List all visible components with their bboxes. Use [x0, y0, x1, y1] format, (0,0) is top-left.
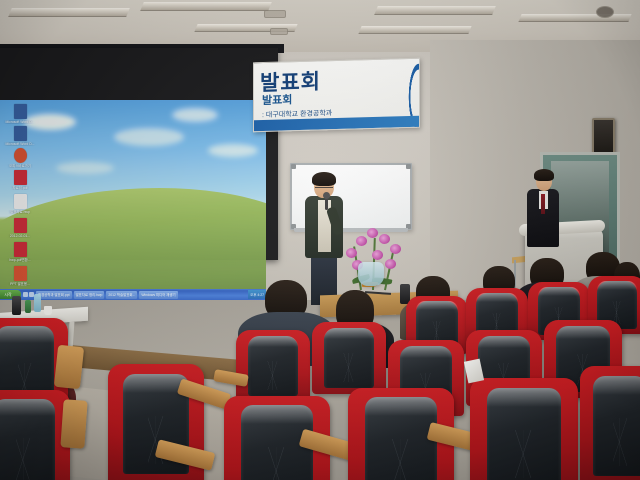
desktop-icon[interactable]: 자료집.pdf — [0, 170, 42, 190]
word-document-icon — [14, 104, 27, 119]
seat-highlight — [556, 326, 609, 338]
seat-highlight — [0, 326, 54, 343]
seat-highlight — [476, 293, 518, 302]
seat-highlight — [365, 397, 437, 416]
orchid-bloom — [356, 236, 367, 246]
seat-highlight — [597, 281, 636, 290]
cloud — [114, 128, 184, 146]
water-bottle-icon — [34, 294, 41, 312]
pdf-document-icon — [14, 242, 27, 257]
staff-necktie — [541, 194, 545, 214]
system-tray[interactable]: 오후 4:27 — [248, 290, 266, 299]
ceiling-light-fixture — [518, 14, 631, 22]
powerpoint-document-icon — [14, 266, 27, 281]
taskbar-window-button[interactable]: Windows 미디어 재생기 — [139, 291, 177, 299]
office-app-icon — [14, 148, 27, 163]
cloud — [56, 162, 114, 174]
desktop-icon[interactable]: Microsoft Word D... — [0, 104, 42, 124]
desktop-icon-label: hwp-pdf변환... — [0, 258, 42, 262]
seat-highlight — [487, 388, 560, 407]
orchid-bloom — [372, 250, 383, 260]
seat-armrest — [54, 345, 84, 389]
ceiling-speaker — [596, 6, 614, 18]
projection-screen: Microsoft Word D... Microsoft Word D... … — [0, 48, 278, 260]
ceiling-light-fixture — [8, 8, 130, 17]
projected-desktop: Microsoft Word D... Microsoft Word D... … — [0, 100, 266, 300]
auditorium-seat[interactable] — [312, 322, 386, 394]
whiteboard-corner — [406, 164, 411, 169]
seat-highlight — [538, 287, 580, 296]
auditorium-seat[interactable] — [0, 390, 70, 480]
word-document-icon — [14, 126, 27, 141]
auditorium-seat[interactable] — [236, 330, 310, 402]
quicklaunch-icon[interactable] — [23, 292, 28, 297]
microphone-head-icon — [323, 192, 330, 199]
auditorium-seat[interactable] — [580, 366, 640, 480]
desktop-icon-label: Microsoft Word D... — [0, 120, 42, 124]
ceiling-light-fixture — [374, 6, 496, 15]
seat-highlight — [478, 336, 530, 348]
orchid-bloom — [390, 244, 401, 254]
auditorium-presentation-photo: Microsoft Word D... Microsoft Word D... … — [0, 0, 640, 480]
seat-highlight — [0, 399, 55, 417]
pdf-document-icon — [14, 170, 27, 185]
banner-subtitle: 발표회 — [262, 91, 292, 108]
glasses-icon — [315, 183, 333, 188]
desktop-icon[interactable]: 오피스바로가기 — [0, 148, 42, 168]
seat-highlight — [324, 328, 374, 340]
ceiling-light-fixture — [358, 26, 471, 34]
ceiling-light-fixture — [140, 2, 272, 11]
desktop-icon[interactable]: 2012-02-01... — [0, 218, 42, 238]
water-bottle-icon — [25, 300, 31, 313]
paper-cup-icon — [44, 306, 52, 315]
seat-highlight — [248, 336, 298, 348]
event-banner: 발표회 발표회 : 대구대학교 환경공학과 — [253, 58, 420, 133]
seat-highlight — [416, 301, 458, 310]
orchid-bloom — [367, 228, 378, 238]
cloud — [172, 108, 218, 122]
desktop-icon-label: 오피스바로가기 — [0, 164, 42, 168]
desktop-icon-label: 발표자료.hwp — [0, 210, 42, 214]
cloud — [208, 144, 258, 157]
orchid-bloom — [346, 248, 357, 258]
taskbar-window-button[interactable]: 2012 학술발표회... — [106, 291, 137, 299]
thermos-icon — [12, 296, 21, 315]
pdf-document-icon — [14, 218, 27, 233]
desktop-icon-label: PPT 발표용... — [0, 282, 42, 286]
staff-hair — [534, 169, 554, 181]
seat-highlight — [400, 346, 452, 358]
glass-vase — [358, 262, 384, 286]
taskbar-window-button[interactable]: 환경공학과 발표회.ppt — [36, 291, 72, 299]
ceiling-vent — [270, 28, 288, 35]
desktop-icon[interactable]: PPT 발표용... — [0, 266, 42, 286]
desktop-icon[interactable]: Microsoft Word D... — [0, 126, 42, 146]
seat-highlight — [241, 405, 313, 424]
desktop-icon[interactable]: 발표자료.hwp — [0, 194, 42, 214]
orchid-bloom — [379, 234, 390, 244]
desktop-icon-label: Microsoft Word D... — [0, 142, 42, 146]
orchid-bloom — [385, 259, 396, 269]
desktop-icon-label: 2012-02-01... — [0, 234, 42, 238]
seat-highlight — [593, 376, 640, 395]
desktop-icon-label: 자료집.pdf — [0, 186, 42, 190]
desktop-icon[interactable]: hwp-pdf변환... — [0, 242, 42, 262]
ceiling-vent — [264, 10, 286, 18]
tray-clock: 오후 4:27 — [250, 292, 264, 297]
whiteboard-corner — [291, 164, 296, 169]
seat-armrest — [60, 399, 87, 449]
auditorium-seat[interactable] — [470, 378, 578, 480]
taskbar-window-button[interactable]: 발표자료 정리.hwp — [74, 291, 105, 299]
text-document-icon — [14, 194, 27, 209]
